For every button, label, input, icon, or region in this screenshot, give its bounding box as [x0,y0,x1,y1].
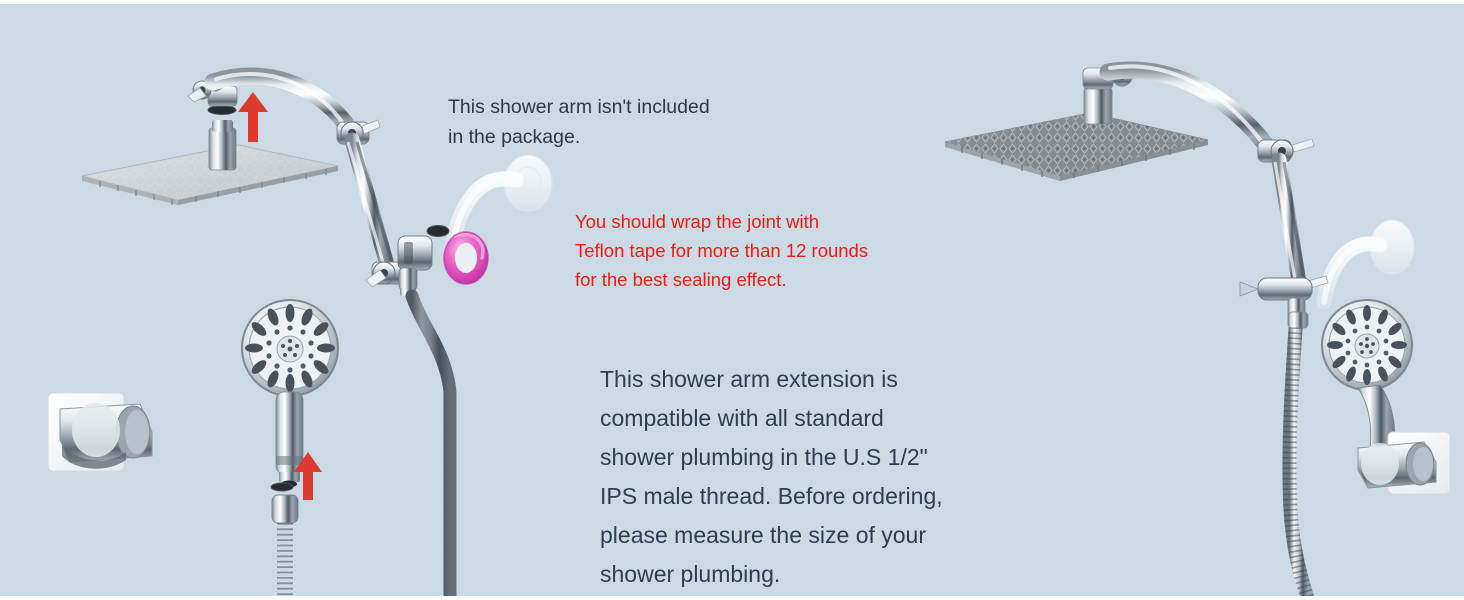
annotation-compatibility: This shower arm extension is compatible … [600,360,943,594]
hose-connector-nut [272,495,298,600]
assembly-arrow-head[interactable] [238,92,268,142]
bottom-edge-strip [0,596,1464,600]
extension-arm-lower [352,140,388,268]
annotation-teflon-warning: You should wrap the joint with Teflon ta… [575,207,868,294]
oring-washer-hose [271,483,293,491]
handheld-shower-head [242,300,338,488]
top-edge-strip [0,0,1464,4]
annotation-arm-not-included: This shower arm isn't included in the pa… [448,92,710,152]
oring-washer-top [208,106,236,115]
rain-shower-head-square [945,88,1208,181]
ghost-wall-shower-arm [1324,220,1414,302]
rain-shower-head-square [82,120,338,205]
wall-bracket [48,393,152,471]
rain-head-inlet-stem [209,120,236,170]
flexible-hose [412,296,450,600]
teflon-tape-coil [444,232,488,284]
extension-arm-lower [1279,160,1300,288]
right-scene-assembled [945,66,1450,600]
infographic-canvas: This shower arm isn't included in the pa… [0,0,1464,600]
left-scene-exploded [48,74,552,600]
diverter-valve [398,236,432,296]
oring-washer-joint [427,226,449,237]
handheld-handle [276,392,303,488]
flexible-hose [1288,312,1308,600]
